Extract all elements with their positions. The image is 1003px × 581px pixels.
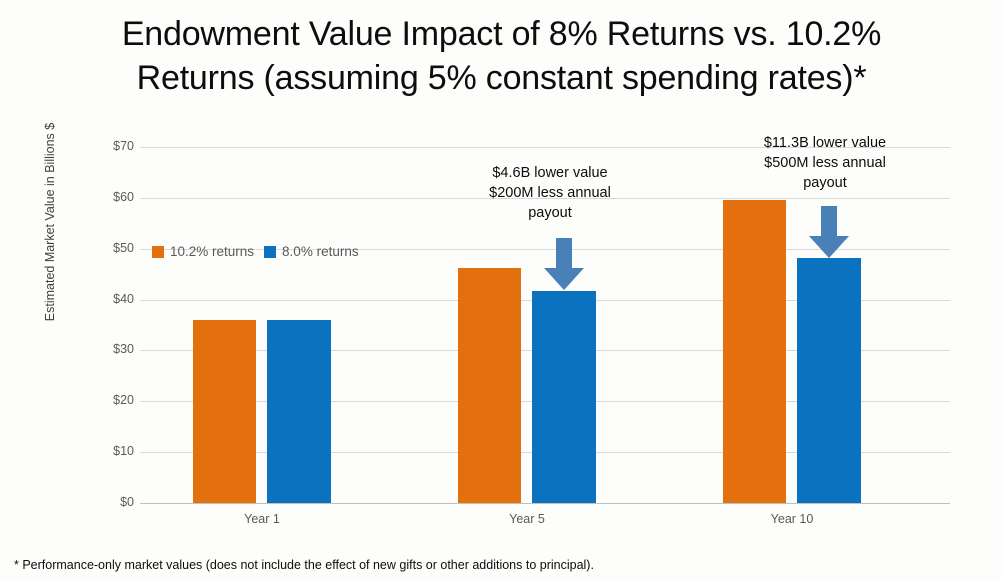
y-axis-label: Estimated Market Value in Billions $ — [43, 112, 57, 332]
chart-legend: 10.2% returns 8.0% returns — [152, 244, 359, 259]
legend-swatch-blue-icon — [264, 246, 276, 258]
y-tick-30: $30 — [74, 342, 134, 356]
y-axis-ticks: $70 $60 $50 $40 $30 $20 $10 $0 — [70, 147, 134, 503]
legend-label-8.0-returns: 8.0% returns — [282, 244, 359, 259]
x-axis-line — [140, 503, 950, 504]
chart-title-line-2: Returns (assuming 5% constant spending r… — [50, 56, 953, 100]
y-tick-60: $60 — [74, 190, 134, 204]
annotation-year10-line-2: $500M less annual — [722, 153, 928, 173]
bar-year1-8.0-returns[interactable] — [267, 320, 331, 503]
bar-year1-10.2-returns[interactable] — [193, 320, 256, 503]
annotation-year5-line-2: $200M less annual — [450, 183, 650, 203]
chart-title-line-1: Endowment Value Impact of 8% Returns vs.… — [50, 12, 953, 56]
y-tick-70: $70 — [74, 139, 134, 153]
bar-year10-8.0-returns[interactable] — [797, 258, 861, 503]
bar-year5-8.0-returns[interactable] — [532, 291, 596, 503]
annotation-year10: $11.3B lower value $500M less annual pay… — [722, 133, 928, 193]
legend-label-10.2-returns: 10.2% returns — [170, 244, 254, 259]
annotation-year5-line-3: payout — [450, 203, 650, 223]
y-tick-0: $0 — [74, 495, 134, 509]
annotation-year10-line-3: payout — [722, 173, 928, 193]
annotation-year10-line-1: $11.3B lower value — [722, 133, 928, 153]
down-arrow-year10-icon — [804, 206, 854, 260]
slide-canvas: Endowment Value Impact of 8% Returns vs.… — [0, 0, 1003, 581]
x-tick-year-10: Year 10 — [712, 512, 872, 526]
chart-title: Endowment Value Impact of 8% Returns vs.… — [50, 12, 953, 100]
y-tick-40: $40 — [74, 292, 134, 306]
y-tick-50: $50 — [74, 241, 134, 255]
annotation-year5-line-1: $4.6B lower value — [450, 163, 650, 183]
legend-swatch-orange-icon — [152, 246, 164, 258]
bar-year10-10.2-returns[interactable] — [723, 200, 786, 503]
down-arrow-year5-icon — [539, 238, 589, 292]
annotation-year5: $4.6B lower value $200M less annual payo… — [450, 163, 650, 223]
bar-year5-10.2-returns[interactable] — [458, 268, 521, 503]
legend-item-10.2-returns[interactable]: 10.2% returns — [152, 244, 254, 259]
x-tick-year-5: Year 5 — [447, 512, 607, 526]
y-tick-10: $10 — [74, 444, 134, 458]
footnote: * Performance-only market values (does n… — [14, 558, 594, 572]
legend-item-8.0-returns[interactable]: 8.0% returns — [264, 244, 359, 259]
y-tick-20: $20 — [74, 393, 134, 407]
x-tick-year-1: Year 1 — [182, 512, 342, 526]
